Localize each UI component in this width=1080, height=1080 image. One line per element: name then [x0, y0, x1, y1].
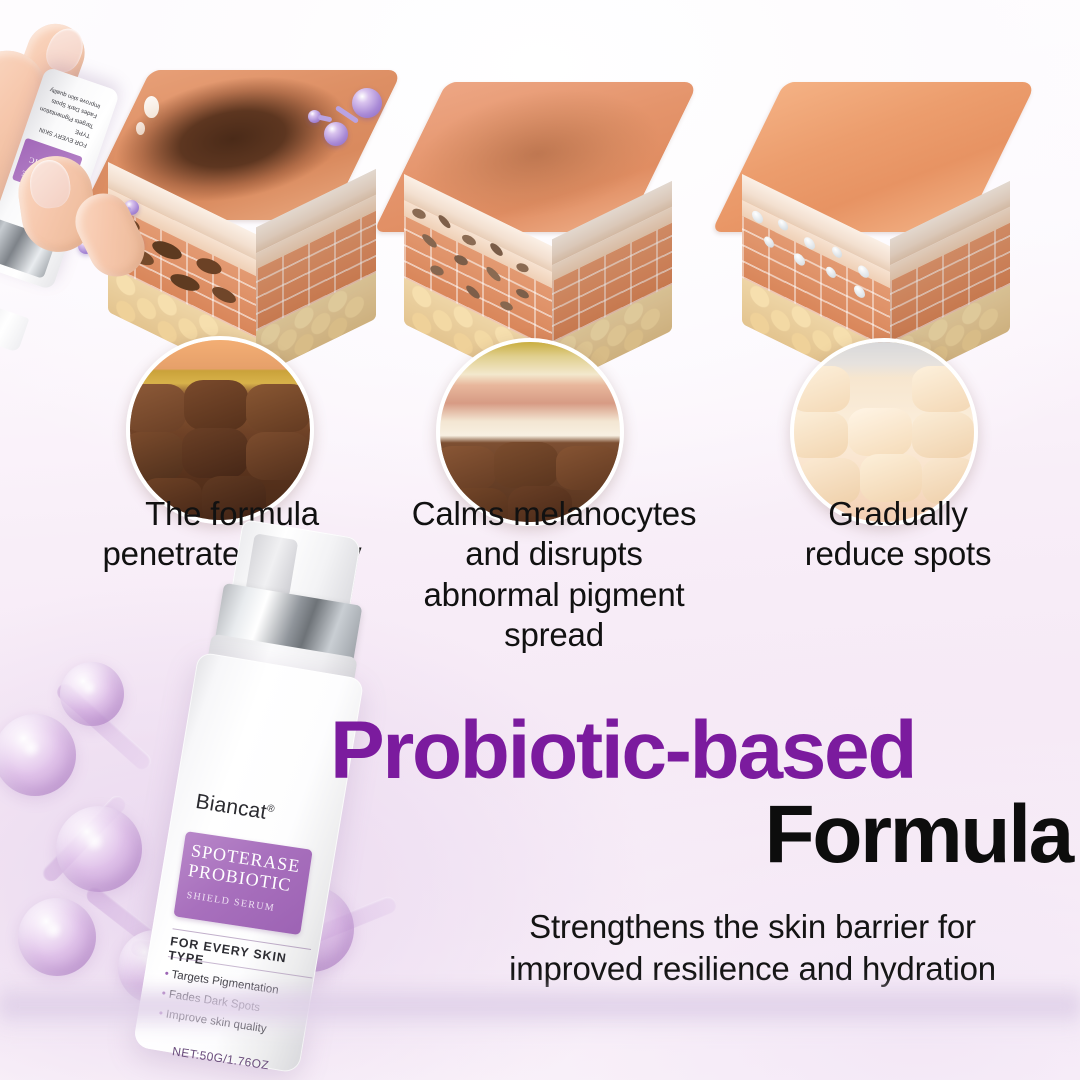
skin-block-step-2	[404, 82, 704, 372]
caption-step-3-line-2: reduce spots	[748, 534, 1048, 574]
serum-drop-small	[136, 122, 145, 135]
subtitle-line-2: improved resilience and hydration	[430, 948, 1075, 990]
subtitle-line-1: Strengthens the skin barrier for	[430, 906, 1075, 948]
surface-shadow-band-soft	[0, 1000, 1080, 1026]
skin-block-step-3	[742, 82, 1042, 372]
product-infographic: SPOTERASE PROBIOTIC FOR EVERY SKIN TYPE …	[0, 0, 1080, 1080]
caption-step-2-line-3: abnormal pigment	[372, 575, 736, 615]
caption-step-2-line-2: and disrupts	[372, 534, 736, 574]
caption-step-3: Gradually reduce spots	[748, 494, 1048, 575]
hand-holding-bottle: SPOTERASE PROBIOTIC FOR EVERY SKIN TYPE …	[0, 26, 216, 376]
headline-line-1: Probiotic-based	[330, 712, 1072, 791]
small-bottle-text: FOR EVERY SKIN TYPE Targets Pigmentation…	[23, 80, 102, 150]
caption-step-3-line-1: Gradually	[748, 494, 1048, 534]
subtitle-block: Strengthens the skin barrier for improve…	[430, 906, 1075, 989]
headline-block: Probiotic-based Formula	[330, 712, 1072, 876]
caption-step-2-line-1: Calms melanocytes	[372, 494, 736, 534]
label-title: SPOTERASE PROBIOTIC	[187, 840, 306, 897]
caption-step-1-line-1: The formula	[62, 494, 402, 534]
pump-head-icon	[0, 300, 29, 352]
serum-drop	[144, 96, 159, 118]
registered-mark: ®	[266, 803, 275, 815]
headline-line-2: Formula	[330, 793, 1072, 877]
